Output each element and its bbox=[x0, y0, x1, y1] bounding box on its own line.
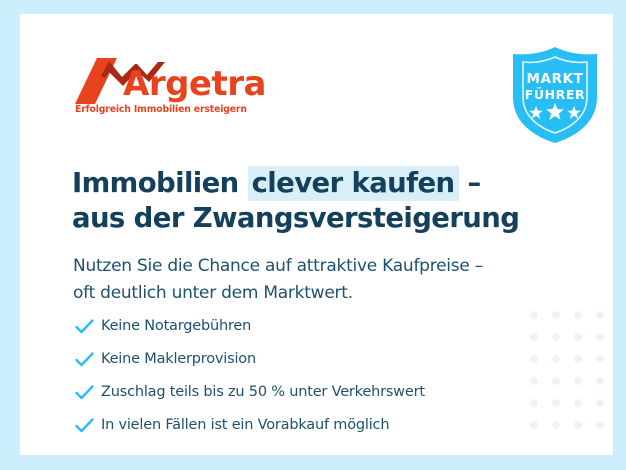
three-stars-icon bbox=[527, 103, 583, 121]
list-item: Keine Notargebühren bbox=[75, 312, 545, 340]
market-leader-badge: MARKT FÜHRER bbox=[507, 45, 603, 145]
decorative-dot bbox=[574, 311, 582, 319]
check-icon bbox=[75, 319, 101, 334]
decorative-dot bbox=[574, 421, 582, 429]
benefit-label: Zuschlag teils bis zu 50 % unter Verkehr… bbox=[101, 384, 425, 400]
headline-part-pre: Immobilien bbox=[72, 167, 248, 199]
benefit-label: In vielen Fällen ist ein Vorabkauf mögli… bbox=[101, 417, 389, 433]
decorative-dot bbox=[552, 311, 560, 319]
logo-tagline: Erfolgreich Immobilien ersteigern bbox=[75, 104, 247, 115]
decorative-dot bbox=[574, 399, 582, 407]
decorative-dot bbox=[574, 333, 582, 341]
check-icon bbox=[75, 352, 101, 367]
headline-highlight: clever kaufen bbox=[248, 166, 459, 201]
decorative-dot bbox=[552, 377, 560, 385]
decorative-dot bbox=[552, 333, 560, 341]
list-item: Keine Maklerprovision bbox=[75, 345, 545, 373]
headline-part-post: – bbox=[459, 167, 481, 199]
decorative-dot bbox=[596, 355, 604, 363]
benefit-label: Keine Maklerprovision bbox=[101, 351, 256, 367]
headline-line-2: aus der Zwangsversteigerung bbox=[72, 201, 592, 236]
benefit-label: Keine Notargebühren bbox=[101, 318, 251, 334]
subheading: Nutzen Sie die Chance auf attraktive Kau… bbox=[73, 253, 573, 307]
decorative-dot bbox=[596, 333, 604, 341]
decorative-dot bbox=[552, 421, 560, 429]
badge-stars bbox=[507, 103, 603, 126]
decorative-dot bbox=[596, 421, 604, 429]
badge-line-2: FÜHRER bbox=[507, 87, 603, 102]
banner-card: Argetra Erfolgreich Immobilien ersteiger… bbox=[20, 14, 613, 455]
decorative-dot bbox=[596, 399, 604, 407]
badge-line-1: MARKT bbox=[507, 71, 603, 87]
decorative-dot bbox=[596, 311, 604, 319]
subheading-line-2: oft deutlich unter dem Marktwert. bbox=[73, 280, 573, 307]
headline: Immobilien clever kaufen – aus der Zwang… bbox=[72, 166, 592, 236]
list-item: Zuschlag teils bis zu 50 % unter Verkehr… bbox=[75, 378, 545, 406]
benefits-list: Keine Notargebühren Keine Maklerprovisio… bbox=[75, 312, 545, 444]
argetra-logo[interactable]: Argetra Erfolgreich Immobilien ersteiger… bbox=[75, 58, 275, 120]
check-icon bbox=[75, 385, 101, 400]
list-item: In vielen Fällen ist ein Vorabkauf mögli… bbox=[75, 411, 545, 439]
logo-wordmark: Argetra bbox=[123, 65, 266, 103]
check-icon bbox=[75, 418, 101, 433]
decorative-dot bbox=[552, 355, 560, 363]
decorative-dot bbox=[574, 377, 582, 385]
decorative-dot bbox=[596, 377, 604, 385]
promo-banner: Argetra Erfolgreich Immobilien ersteiger… bbox=[0, 0, 626, 470]
decorative-dot bbox=[574, 355, 582, 363]
subheading-line-1: Nutzen Sie die Chance auf attraktive Kau… bbox=[73, 253, 573, 280]
decorative-dot bbox=[552, 399, 560, 407]
